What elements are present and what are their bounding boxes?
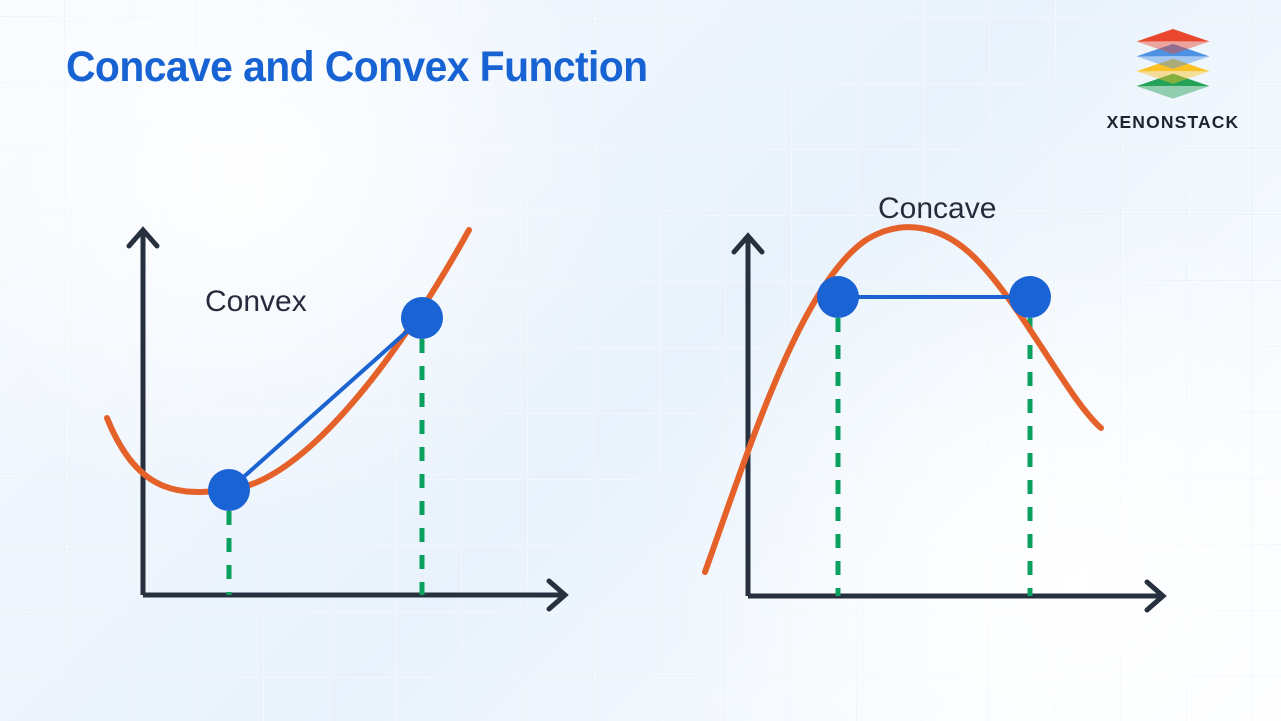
concave-function-curve [705,227,1101,572]
chart-concave: Concave [0,0,1281,721]
concave-data-point-1[interactable] [817,276,859,318]
concave-data-point-2[interactable] [1009,276,1051,318]
slide-canvas: Concave and Convex Function XENONSTACK C… [0,0,1281,721]
concave-chart-label: Concave [878,192,996,225]
